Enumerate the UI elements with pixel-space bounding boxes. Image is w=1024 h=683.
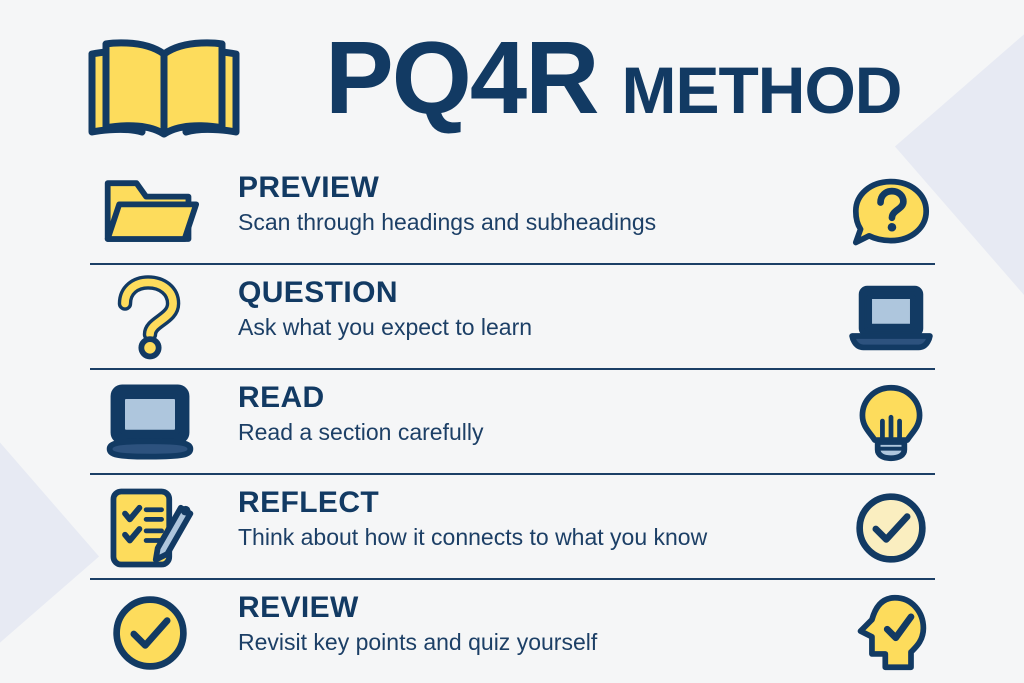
question-speech-bubble-icon — [846, 172, 936, 254]
header: PQ4R METHOD — [0, 18, 1024, 148]
pq4r-infographic: PQ4R METHOD PREVIEW Scan through heading… — [0, 0, 1024, 683]
step-title: QUESTION — [238, 277, 532, 309]
checklist-pencil-icon — [98, 485, 202, 571]
lightbulb-icon — [846, 382, 936, 464]
step-text-read: READ Read a section carefully — [238, 382, 483, 447]
monitor-icon — [98, 380, 202, 466]
page-title: PQ4R METHOD — [325, 26, 901, 129]
step-row-question[interactable]: QUESTION Ask what you expect to learn — [0, 265, 1024, 370]
open-book-icon — [84, 32, 244, 144]
step-description: Read a section carefully — [238, 418, 483, 447]
step-title: REVIEW — [238, 592, 597, 624]
laptop-icon — [846, 277, 936, 359]
step-text-reflect: REFLECT Think about how it connects to w… — [238, 487, 707, 552]
step-text-review: REVIEW Revisit key points and quiz yours… — [238, 592, 597, 657]
step-description: Scan through headings and subheadings — [238, 208, 656, 237]
steps-list: PREVIEW Scan through headings and subhea… — [0, 160, 1024, 683]
step-row-read[interactable]: READ Read a section carefully — [0, 370, 1024, 475]
title-main: PQ4R — [325, 26, 597, 129]
check-circle-filled-icon — [98, 590, 202, 676]
step-row-reflect[interactable]: REFLECT Think about how it connects to w… — [0, 475, 1024, 580]
title-sub: METHOD — [621, 57, 901, 123]
folder-icon — [98, 170, 202, 256]
step-description: Revisit key points and quiz yourself — [238, 628, 597, 657]
step-row-review[interactable]: REVIEW Revisit key points and quiz yours… — [0, 580, 1024, 683]
check-circle-outline-icon — [846, 487, 936, 569]
step-row-preview[interactable]: PREVIEW Scan through headings and subhea… — [0, 160, 1024, 265]
step-text-preview: PREVIEW Scan through headings and subhea… — [238, 172, 656, 237]
step-text-question: QUESTION Ask what you expect to learn — [238, 277, 532, 342]
step-title: REFLECT — [238, 487, 707, 519]
step-title: READ — [238, 382, 483, 414]
step-title: PREVIEW — [238, 172, 656, 204]
head-check-icon — [846, 592, 936, 674]
step-description: Think about how it connects to what you … — [238, 523, 707, 552]
step-description: Ask what you expect to learn — [238, 313, 532, 342]
question-mark-icon — [98, 275, 202, 361]
